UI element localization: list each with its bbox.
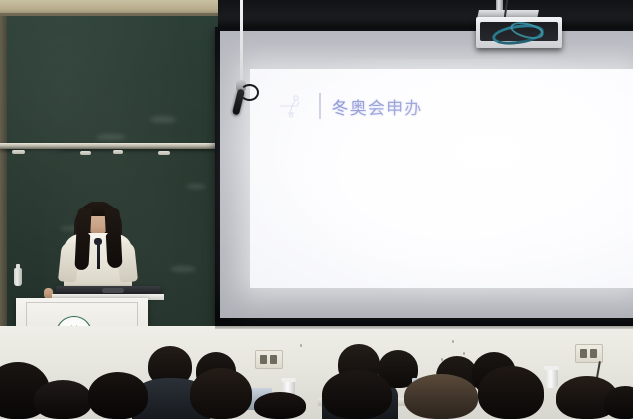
chalk-piece [80,151,91,155]
water-bottle [14,268,22,286]
chalk-piece [113,150,123,154]
audience-head [254,392,306,419]
wall-trim [215,326,633,329]
wall-outlet[interactable] [255,350,283,369]
presenter [58,198,138,290]
audience-head [322,370,392,419]
chalkboard-frame [0,0,218,16]
audience-head [604,386,633,419]
slide-title: 冬奥会申办 [332,94,423,119]
paper-cup [545,366,558,388]
audience-head [88,372,148,419]
ceiling-right [215,0,633,30]
chalk-piece [12,150,25,154]
lecture-hall-scene: 冬奥会申办 [0,0,633,419]
chalk-ledge [0,143,218,149]
title-divider [319,93,321,119]
microphone-cable [240,0,243,84]
chalkboard-edge [0,16,7,346]
audience-head [190,368,252,419]
presenter-hair-right [104,208,122,269]
laptop-trackpad [102,288,124,293]
projection-screen: 冬奥会申办 [215,27,633,326]
chalk-piece [158,151,170,155]
audience-head [404,374,478,419]
presenter-ribbon-tail [97,243,100,269]
projected-slide: 冬奥会申办 [250,69,633,288]
ceiling-projector [476,17,562,48]
slide-title-row: 冬奥会申办 [278,91,423,121]
projector-lens-bay [480,22,558,41]
audience-head [478,366,544,419]
figure-skater-icon [278,91,308,121]
screen-surface: 冬奥会申办 [220,31,633,318]
audience-head [34,380,92,419]
